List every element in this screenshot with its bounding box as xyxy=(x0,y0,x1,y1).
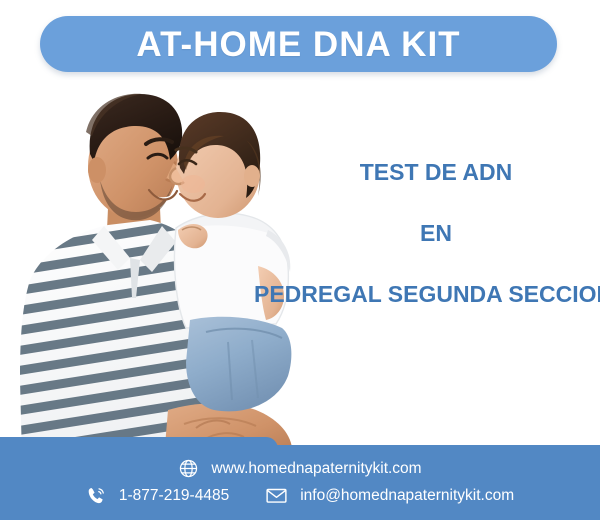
email-label: info@homednapaternitykit.com xyxy=(300,488,514,504)
phone-label: 1-877-219-4485 xyxy=(119,488,229,504)
headline-line-2: EN xyxy=(272,221,600,245)
footer-contact-rows: www.homednapaternitykit.com 1-877-219-44… xyxy=(0,445,600,520)
globe-icon xyxy=(178,458,199,479)
contact-phone[interactable]: 1-877-219-4485 xyxy=(86,485,229,506)
header-title: AT-HOME DNA KIT xyxy=(136,27,460,62)
headline-line-1: TEST DE ADN xyxy=(272,160,600,184)
phone-icon xyxy=(86,485,107,506)
website-label: www.homednapaternitykit.com xyxy=(211,461,421,477)
dna-kit-banner: AT-HOME DNA KIT xyxy=(0,0,600,520)
headline-line-3: PEDREGAL SEGUNDA SECCION xyxy=(254,282,600,306)
headline-block: TEST DE ADN EN PEDREGAL SEGUNDA SECCION xyxy=(272,160,600,306)
contact-website[interactable]: www.homednapaternitykit.com xyxy=(178,458,421,479)
envelope-icon xyxy=(265,484,288,507)
footer-row-website: www.homednapaternitykit.com xyxy=(178,458,421,479)
contact-email[interactable]: info@homednapaternitykit.com xyxy=(265,484,514,507)
header-pill: AT-HOME DNA KIT xyxy=(40,16,557,72)
footer-row-phone-email: 1-877-219-4485 info@homednapaternitykit.… xyxy=(86,484,514,507)
